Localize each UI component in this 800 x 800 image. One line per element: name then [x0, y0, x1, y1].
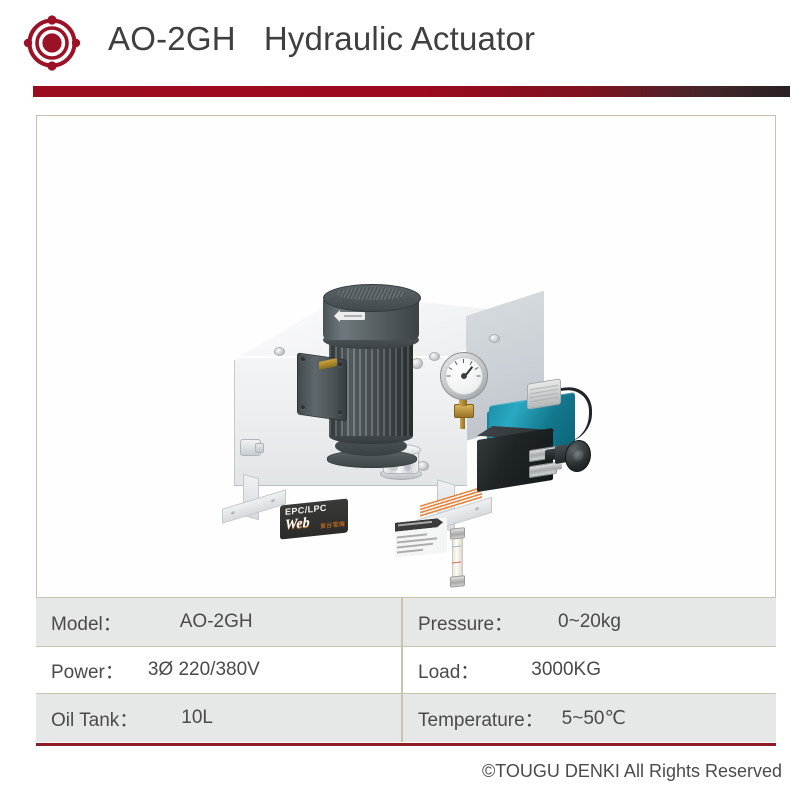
table-row: Power： 3Ø 220/380V Load： 3000KG	[36, 646, 776, 694]
foot-bolt-hole	[475, 507, 479, 511]
junction-box-screw	[338, 410, 342, 415]
spec-cell-power: Power： 3Ø 220/380V	[36, 647, 401, 693]
junction-box-screw	[301, 357, 305, 362]
brand-logo-icon	[23, 14, 81, 72]
pressure-gauge	[440, 352, 488, 400]
tank-brand-badge: EPC/LPC Web 東谷電機	[280, 498, 348, 539]
product-image-frame: EPC/LPC Web 東谷電機	[36, 115, 776, 598]
foot-bolt-hole	[271, 499, 275, 503]
decal-arrow-band	[395, 518, 443, 532]
header-accent-rule	[33, 86, 790, 97]
copyright-text: ©TOUGU DENKI All Rights Reserved	[482, 761, 782, 782]
tank-bolt	[489, 334, 500, 343]
specification-table: Model： AO-2GH Pressure： 0~20kg Power： 3Ø…	[36, 598, 776, 746]
page-title: AO-2GH Hydraulic Actuator	[108, 20, 535, 58]
foot-bolt-hole	[231, 511, 235, 515]
decal-text-line	[397, 549, 423, 553]
spec-value: 5~50℃	[544, 707, 626, 730]
gauge-hub	[461, 373, 467, 379]
badge-line-2: Web	[285, 515, 310, 534]
table-row: Model： AO-2GH Pressure： 0~20kg	[36, 598, 776, 646]
spec-label: Power：	[36, 657, 124, 684]
spec-label: Load：	[403, 657, 479, 684]
spec-value: AO-2GH	[122, 611, 253, 633]
spec-cell-load: Load： 3000KG	[401, 647, 776, 693]
spec-value: 3000KG	[479, 659, 601, 681]
spec-cell-model: Model： AO-2GH	[36, 598, 401, 646]
decal-text-line	[397, 533, 427, 538]
gauge-brass-fitting	[454, 404, 474, 418]
gauge-face	[445, 357, 483, 395]
valve-coil	[527, 378, 561, 409]
spec-label: Temperature：	[403, 705, 544, 732]
spec-label: Pressure：	[403, 609, 513, 636]
spec-cell-oil-tank: Oil Tank： 10L	[36, 694, 401, 742]
decal-text-line	[397, 543, 433, 548]
oil-level-sight-glass	[450, 527, 463, 586]
sight-glass-cap-bottom	[450, 575, 465, 588]
sight-glass-cap-top	[450, 527, 465, 540]
spec-value: 10L	[138, 707, 213, 729]
spec-label: Oil Tank：	[36, 705, 138, 732]
spec-cell-temperature: Temperature： 5~50℃	[401, 694, 776, 742]
instruction-decal	[395, 517, 447, 557]
page-header: AO-2GH Hydraulic Actuator	[0, 0, 800, 100]
spec-label: Model：	[36, 609, 122, 636]
junction-box-screw	[338, 362, 342, 367]
table-row: Oil Tank： 10L Temperature： 5~50℃	[36, 694, 776, 742]
junction-box-screw	[301, 405, 305, 410]
badge-line-3: 東谷電機	[320, 519, 345, 531]
tank-bolt	[274, 347, 285, 356]
electric-motor	[309, 284, 439, 474]
manifold-block	[477, 434, 581, 496]
spec-value: 0~20kg	[513, 611, 621, 633]
page-footer: ©TOUGU DENKI All Rights Reserved	[0, 757, 800, 793]
spec-cell-pressure: Pressure： 0~20kg	[401, 598, 776, 646]
motor-fan-grill	[337, 287, 405, 300]
spec-value: 3Ø 220/380V	[124, 659, 260, 681]
rotation-arrow-decal	[339, 312, 365, 320]
drain-plug	[240, 439, 261, 456]
product-illustration: EPC/LPC Web 東谷電機	[37, 116, 775, 597]
